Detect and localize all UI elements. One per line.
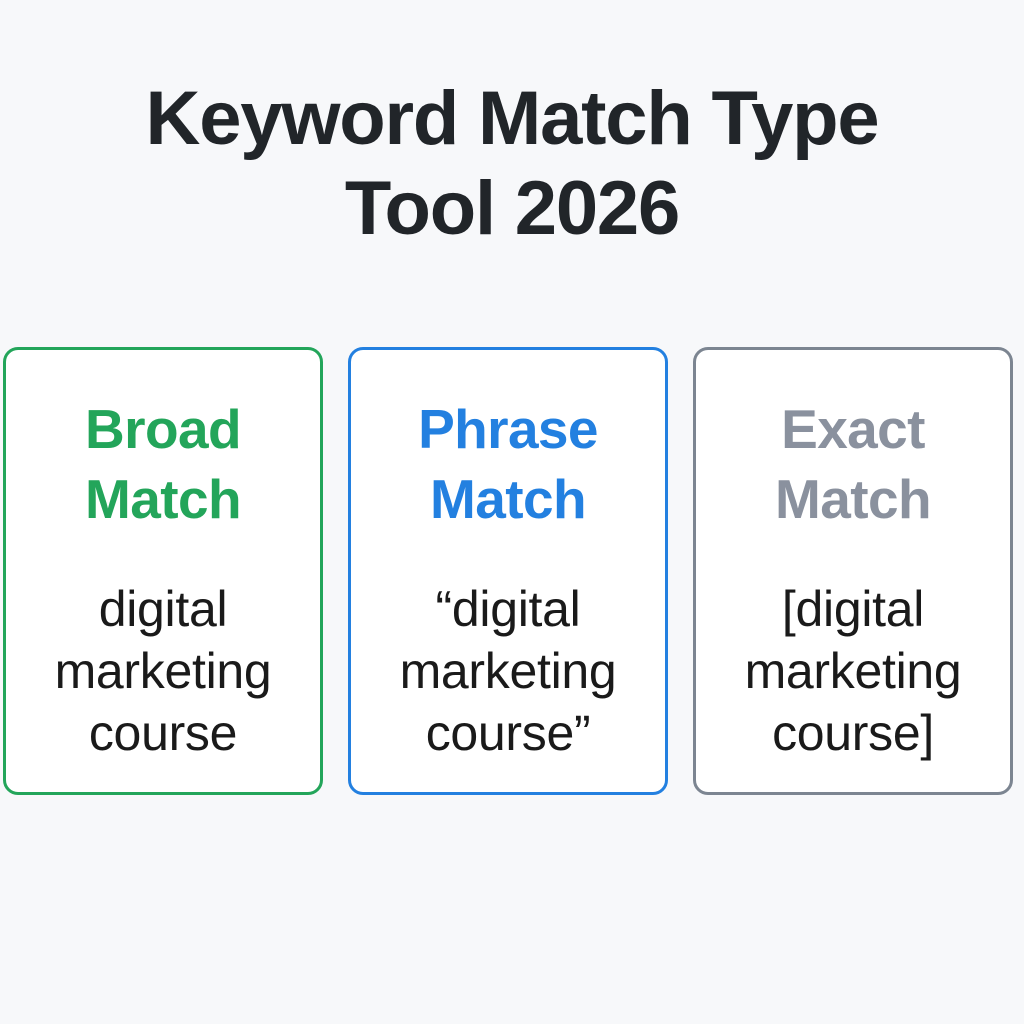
- card-broad-match[interactable]: Broad Match digital marketing course: [3, 347, 323, 795]
- infographic-canvas: Keyword Match Type Tool 2026 Broad Match…: [0, 0, 1024, 1024]
- card-exact-match-heading: Exact Match: [696, 394, 1010, 534]
- card-phrase-match-heading: Phrase Match: [351, 394, 665, 534]
- card-broad-match-keyword-line-2: marketing: [12, 640, 314, 702]
- page-title: Keyword Match Type Tool 2026: [0, 74, 1024, 254]
- card-broad-match-keyword: digital marketing course: [6, 578, 320, 764]
- card-exact-match-heading-line-1: Exact: [706, 394, 1000, 464]
- card-phrase-match-keyword-line-3: course”: [357, 702, 659, 764]
- card-phrase-match-keyword-line-2: marketing: [357, 640, 659, 702]
- card-phrase-match[interactable]: Phrase Match “digital marketing course”: [348, 347, 668, 795]
- match-type-card-row: Broad Match digital marketing course Phr…: [3, 347, 1013, 797]
- card-phrase-match-keyword-line-1: “digital: [357, 578, 659, 640]
- card-exact-match-keyword-line-1: [digital: [702, 578, 1004, 640]
- card-broad-match-heading-line-2: Match: [16, 464, 310, 534]
- card-exact-match-heading-line-2: Match: [706, 464, 1000, 534]
- card-broad-match-heading: Broad Match: [6, 394, 320, 534]
- card-exact-match-keyword-line-3: course]: [702, 702, 1004, 764]
- card-broad-match-heading-line-1: Broad: [16, 394, 310, 464]
- card-broad-match-keyword-line-1: digital: [12, 578, 314, 640]
- card-phrase-match-keyword: “digital marketing course”: [351, 578, 665, 764]
- card-exact-match-keyword-line-2: marketing: [702, 640, 1004, 702]
- page-title-line-1: Keyword Match Type: [0, 74, 1024, 164]
- card-phrase-match-heading-line-1: Phrase: [361, 394, 655, 464]
- card-broad-match-keyword-line-3: course: [12, 702, 314, 764]
- card-exact-match[interactable]: Exact Match [digital marketing course]: [693, 347, 1013, 795]
- card-phrase-match-heading-line-2: Match: [361, 464, 655, 534]
- card-exact-match-keyword: [digital marketing course]: [696, 578, 1010, 764]
- page-title-line-2: Tool 2026: [0, 164, 1024, 254]
